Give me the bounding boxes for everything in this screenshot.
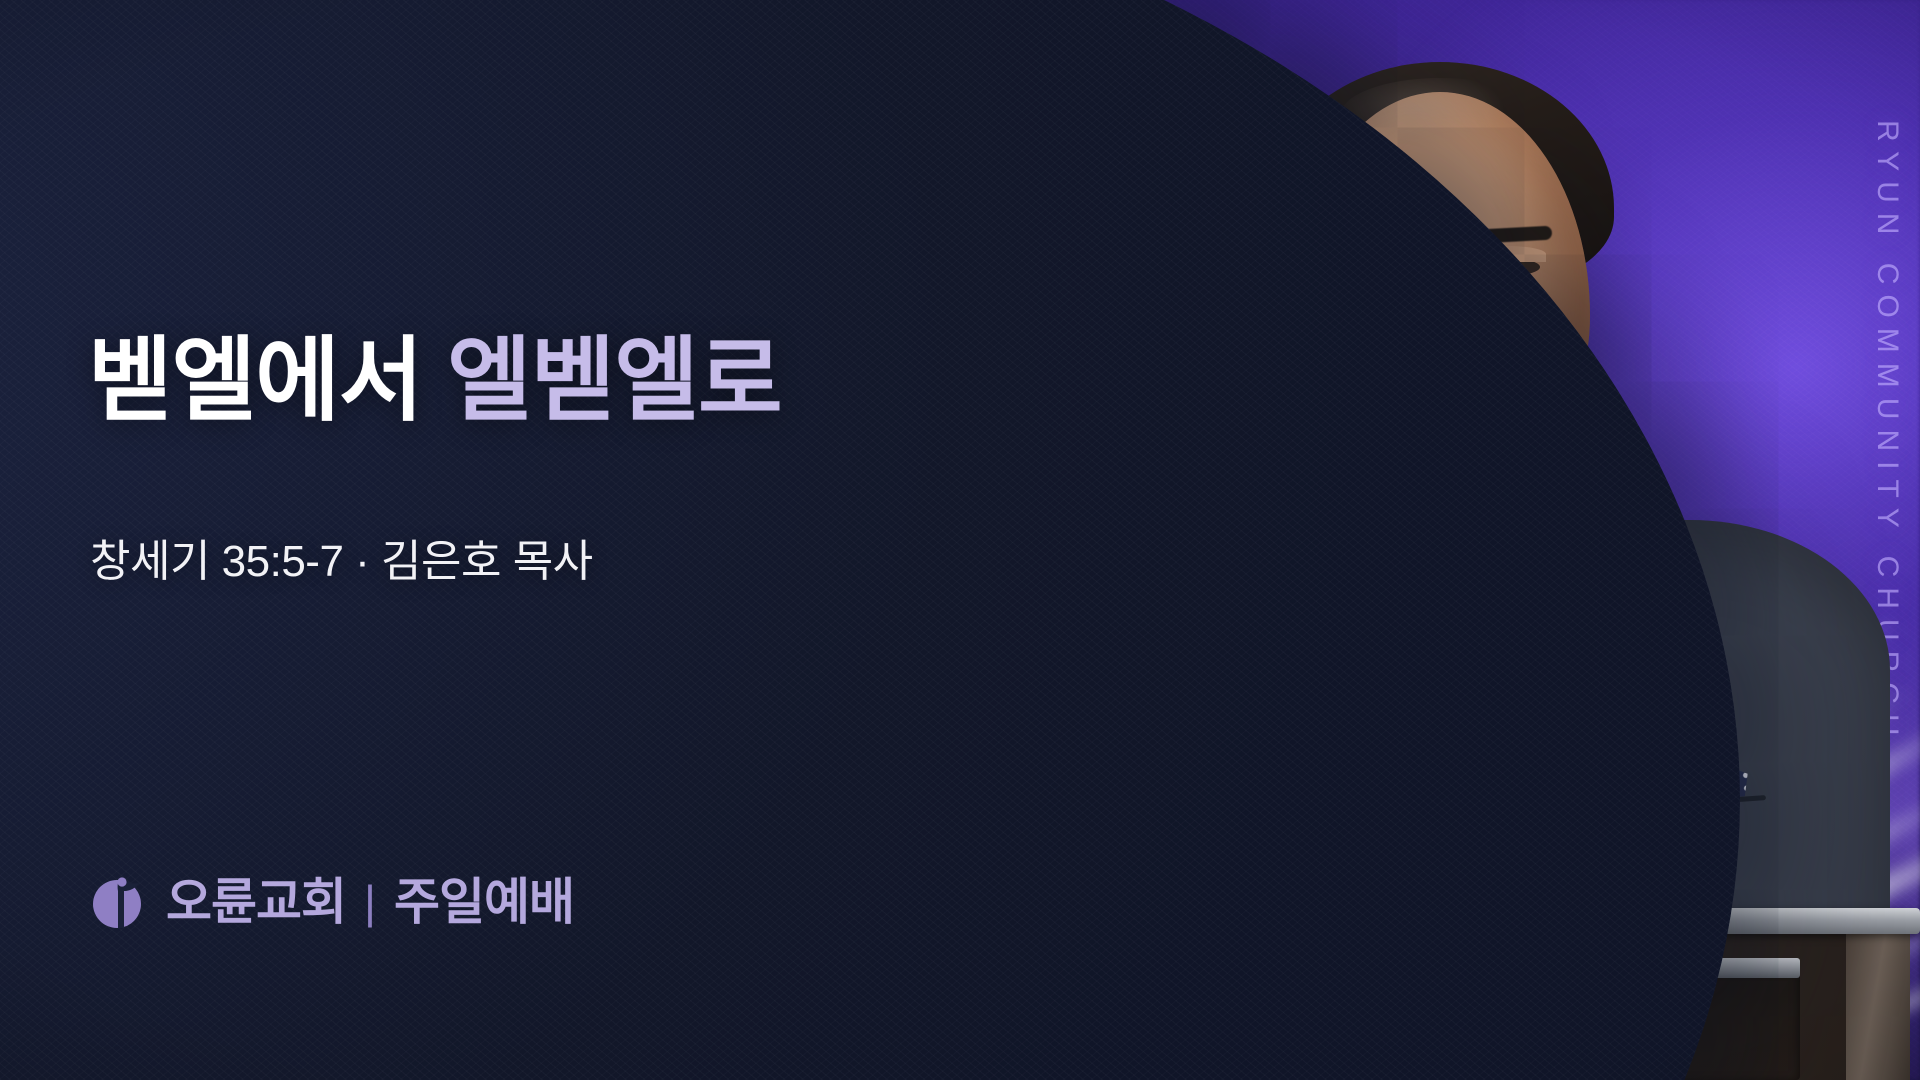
scripture-and-speaker: 창세기 35:5-7 · 김은호 목사 — [90, 525, 593, 589]
church-name-label: 오륜교회 — [166, 877, 346, 927]
service-name-label: 주일예배 — [394, 877, 574, 927]
sermon-title-slide: RYUN COMMUNITY CHURCH — [0, 0, 1920, 1080]
sermon-title: 벧엘에서 엘벧엘로 — [88, 330, 1088, 433]
church-dove-circle-icon — [90, 872, 150, 932]
church-logo-bar: 오륜교회 | 주일예배 — [90, 872, 574, 932]
logo-separator: | — [364, 879, 376, 925]
sermon-title-primary: 벧엘에서 — [88, 330, 447, 432]
podium-side-edge — [1846, 930, 1910, 1080]
sermon-title-accent: 엘벧엘로 — [447, 330, 782, 432]
